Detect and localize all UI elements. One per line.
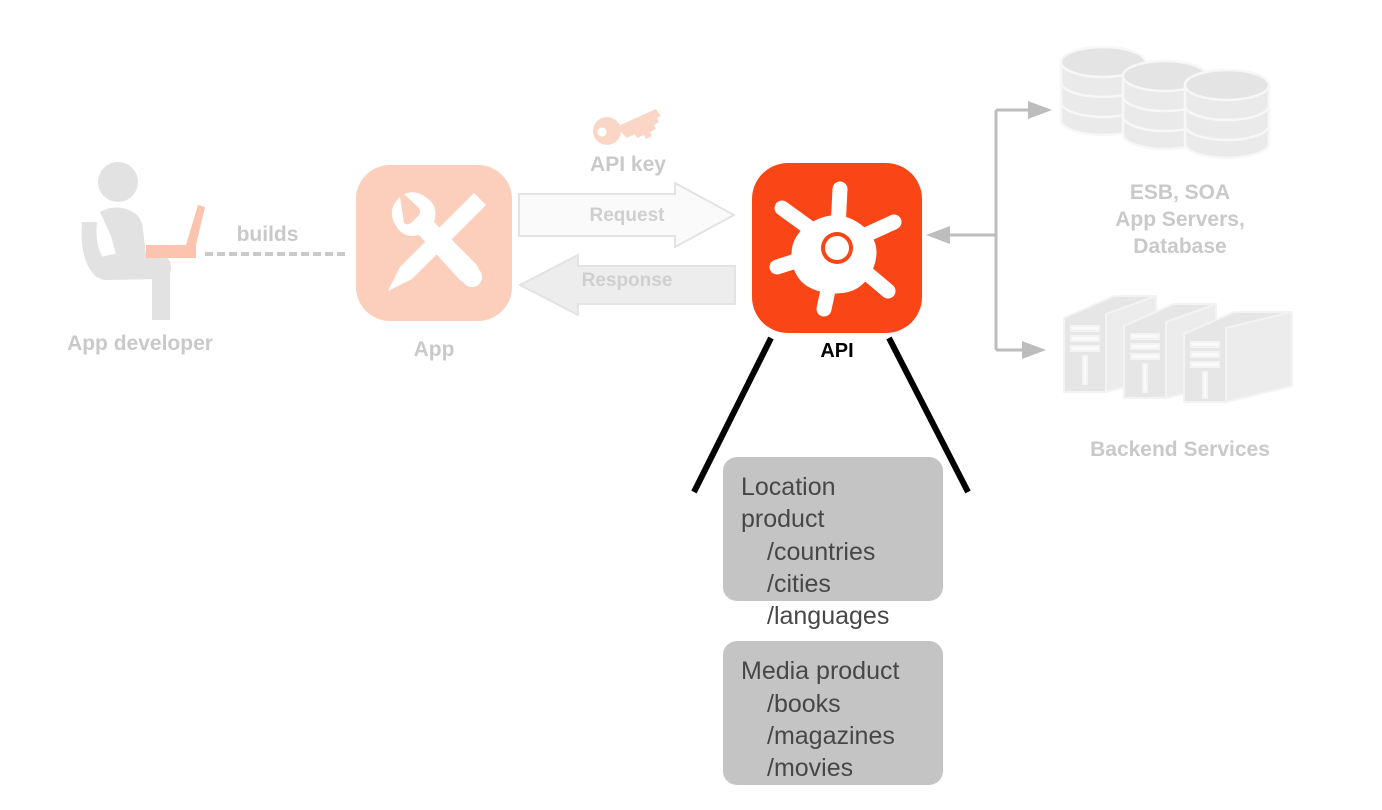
server-racks-icon: [1060, 292, 1300, 412]
request-label: Request: [532, 205, 722, 227]
product-path: /books: [767, 688, 925, 720]
builds-dashed-connector: [205, 252, 345, 256]
api-key-label: API key: [548, 152, 708, 179]
product-path: /movies: [767, 752, 925, 784]
product-path: /languages: [767, 600, 925, 632]
product-title: Media product: [741, 655, 925, 687]
product-path: /countries: [767, 536, 925, 568]
product-title: Location product: [741, 471, 925, 535]
product-path: /cities: [767, 568, 925, 600]
database-stack-icon: [1055, 40, 1305, 165]
key-icon: [590, 105, 666, 147]
api-icon[interactable]: [752, 163, 922, 333]
api-tile: [752, 163, 922, 333]
app-tile: [356, 165, 512, 321]
media-product-box[interactable]: Media product /books /magazines /movies: [723, 641, 943, 785]
diagram-canvas: App developer builds App API key: [0, 0, 1382, 810]
app-label: App: [356, 337, 512, 364]
location-product-box[interactable]: Location product /countries /cities /lan…: [723, 457, 943, 601]
response-label: Response: [532, 270, 722, 292]
database-label: ESB, SOA App Servers, Database: [1060, 180, 1300, 261]
backend-services-label: Backend Services: [1045, 437, 1315, 464]
app-developer-label: App developer: [20, 331, 260, 358]
product-path: /magazines: [767, 720, 925, 752]
app-icon[interactable]: [356, 165, 512, 321]
builds-label: builds: [200, 222, 335, 249]
